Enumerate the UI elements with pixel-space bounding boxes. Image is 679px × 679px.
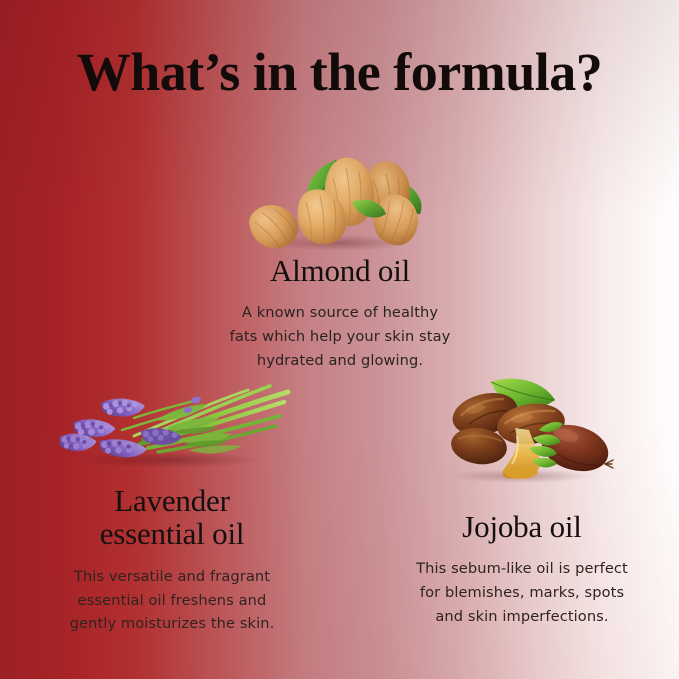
body-line: This sebum-like oil is perfect: [372, 557, 672, 581]
page-title: What’s in the formula?: [0, 44, 679, 101]
heading-line: Almond oil: [270, 253, 410, 288]
body-line: gently moisturizes the skin.: [22, 612, 322, 636]
body-line: A known source of healthy: [179, 301, 501, 325]
section-lavender: Lavender essential oil This versatile an…: [22, 374, 322, 636]
almond-nuts-illustration: [240, 146, 440, 250]
section-heading-jojoba: Jojoba oil: [372, 510, 672, 543]
body-line: This versatile and fragrant: [22, 565, 322, 589]
jojoba-seeds-illustration: [429, 372, 615, 484]
body-line: for blemishes, marks, spots: [372, 581, 672, 605]
body-line: fats which help your skin stay: [179, 325, 501, 349]
body-line: and skin imperfections.: [372, 605, 672, 629]
section-almond: Almond oil A known source of healthy fat…: [179, 146, 501, 372]
section-body-lavender: This versatile and fragrant essential oi…: [22, 565, 322, 636]
section-heading-almond: Almond oil: [179, 254, 501, 287]
section-body-jojoba: This sebum-like oil is perfect for blemi…: [372, 557, 672, 628]
formula-infographic: What’s in the formula?: [0, 0, 679, 679]
heading-line: Jojoba oil: [462, 509, 581, 544]
heading-line: essential oil: [100, 516, 245, 551]
heading-line: Lavender: [114, 483, 229, 518]
section-heading-lavender: Lavender essential oil: [22, 484, 322, 551]
section-body-almond: A known source of healthy fats which hel…: [179, 301, 501, 372]
lavender-bouquet-illustration: [48, 374, 296, 470]
body-line: essential oil freshens and: [22, 589, 322, 613]
section-jojoba: Jojoba oil This sebum-like oil is perfec…: [372, 372, 672, 628]
body-line: hydrated and glowing.: [179, 349, 501, 373]
